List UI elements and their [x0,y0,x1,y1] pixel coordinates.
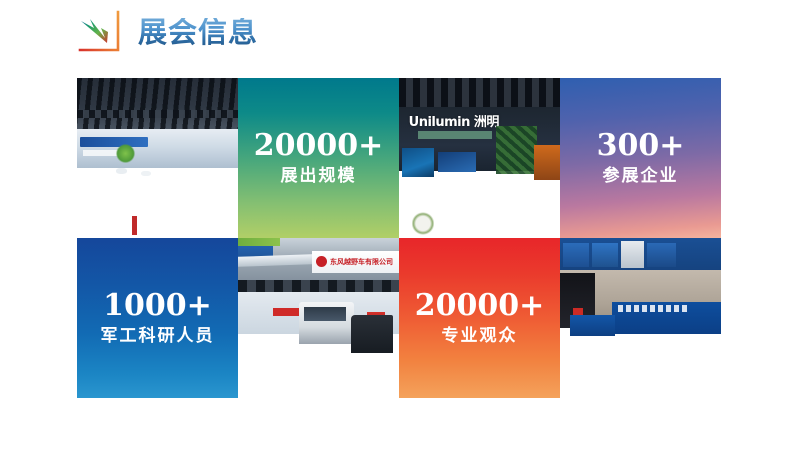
face-mask [116,168,127,174]
photo-canvas [77,78,238,238]
stat-label: 参展企业 [603,168,679,185]
crowd [238,331,399,398]
exhibitor-count-stat: 300+ 参展企业 [560,78,721,238]
unilumin-booth-photo: Unilumin 洲明 [399,78,560,238]
page-title: 展会信息 [138,18,258,47]
booth-signboard: 东风越野车有限公司 [312,251,399,273]
poster [621,241,644,268]
booth-banner [80,137,148,147]
poster [592,243,618,267]
ceiling-truss [77,78,238,132]
exhibition-hall-crowd-photo [77,78,238,238]
crowd [77,155,238,238]
green-banner [238,238,280,246]
arrow-bracket-logo [74,8,124,56]
stat-label: 专业观众 [442,328,518,345]
photo-canvas: Unilumin 洲明 [399,78,560,238]
dongfeng-logo-icon [316,256,327,267]
photo-canvas [560,238,721,398]
military-researcher-stat: 1000+ 军工科研人员 [77,238,238,398]
stat-number: 300+ [597,131,685,161]
stat-number: 20000+ [415,291,545,321]
entrance-crowd-photo [560,238,721,398]
photo-canvas: 东风越野车有限公司 [238,238,399,398]
booth-subtitle [418,131,492,139]
vehicle-booth-photo: 东风越野车有限公司 [238,238,399,398]
booth-brand-text: Unilumin 洲明 [409,112,509,130]
stat-number: 20000+ [254,131,384,161]
stat-label: 军工科研人员 [101,328,215,345]
red-sign [573,308,583,314]
red-lanyard [132,216,137,235]
exhibition-info-page: 展会信息 20000+ 展出规模 [0,0,795,460]
info-grid: 20000+ 展出规模 Unilumin 洲明 300+ 参展企业 [77,78,721,398]
stat-label: 展出规模 [281,168,357,185]
flower-arrangement [412,212,435,234]
exhibition-scale-stat: 20000+ 展出规模 [238,78,399,238]
red-banner [273,308,299,316]
stat-number: 1000+ [103,291,212,321]
professional-visitor-stat: 20000+ 专业观众 [399,238,560,398]
backdrop-text [618,305,689,311]
crowd [560,321,721,398]
truck-windshield [304,307,346,321]
poster [563,243,589,267]
poster [647,243,676,267]
booth-brand-text: 东风越野车有限公司 [330,257,393,267]
truss-bar [77,110,238,118]
page-header: 展会信息 [74,8,258,56]
